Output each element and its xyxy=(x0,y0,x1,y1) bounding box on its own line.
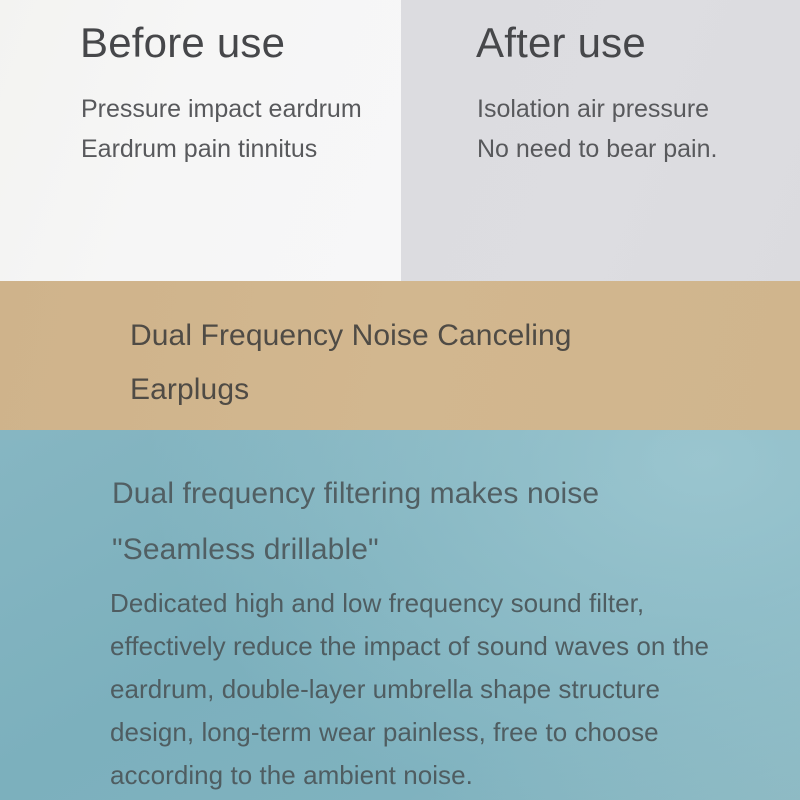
panel-title-before: Before use xyxy=(80,22,285,64)
product-title: Dual Frequency Noise Canceling Earplugs xyxy=(130,309,690,417)
feature-heading: Dual frequency filtering makes noise "Se… xyxy=(112,466,712,578)
comparison-panel-before: Before use Pressure impact eardrum Eardr… xyxy=(0,0,401,281)
product-infographic: Before use Pressure impact eardrum Eardr… xyxy=(0,0,800,800)
panel-lines-before: Pressure impact eardrum Eardrum pain tin… xyxy=(81,89,362,169)
comparison-panel-after: After use Isolation air pressure No need… xyxy=(401,0,800,281)
panel-lines-after: Isolation air pressure No need to bear p… xyxy=(477,89,717,169)
panel-line: Eardrum pain tinnitus xyxy=(81,129,362,169)
product-title-band: Dual Frequency Noise Canceling Earplugs xyxy=(0,281,800,430)
panel-title-after: After use xyxy=(476,22,646,64)
before-after-comparison: Before use Pressure impact eardrum Eardr… xyxy=(0,0,800,281)
feature-heading-line-2: "Seamless drillable" xyxy=(112,522,712,578)
feature-body-text: Dedicated high and low frequency sound f… xyxy=(110,582,720,797)
feature-section: Dual frequency filtering makes noise "Se… xyxy=(0,430,800,800)
feature-heading-line-1: Dual frequency filtering makes noise xyxy=(112,466,712,522)
panel-line: Isolation air pressure xyxy=(477,89,717,129)
panel-line: No need to bear pain. xyxy=(477,129,717,169)
panel-line: Pressure impact eardrum xyxy=(81,89,362,129)
